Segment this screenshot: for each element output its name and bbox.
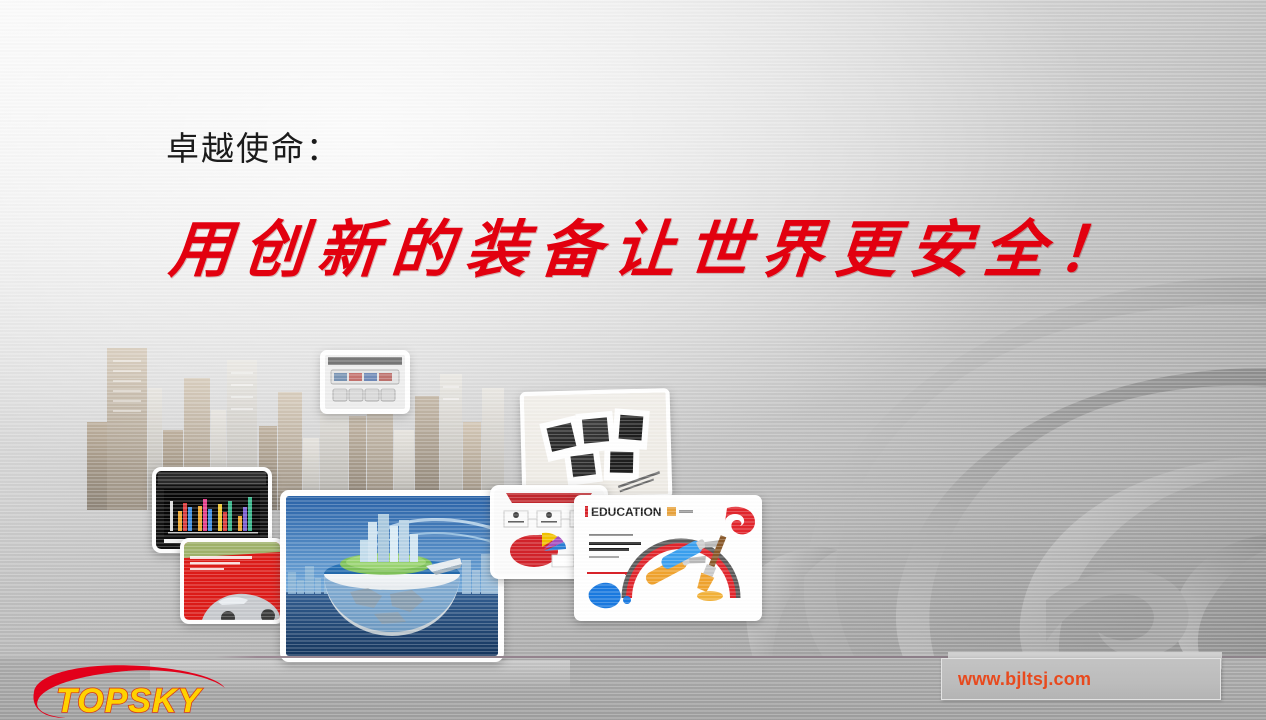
image-collage: EDUCATION [0,300,790,660]
city-skyline-image [85,330,505,510]
url-plate[interactable]: www.bjltsj.com [941,658,1221,700]
swirl-watermark-icon [746,250,1266,720]
website-url[interactable]: www.bjltsj.com [942,669,1091,690]
control-panel-image [320,350,410,414]
mission-headline: 用创新的装备让世界更安全！ [166,199,1136,289]
topsky-logo[interactable]: TOPSKY [22,662,227,720]
red-car-slide-image [180,538,284,624]
logo-wordmark: TOPSKY [56,682,204,720]
education-slide-image: EDUCATION [574,495,762,621]
presentation-slide: EDUCATION [0,0,1266,720]
globe-city-image [280,490,504,662]
mission-label: 卓越使命： [166,122,341,170]
education-title: EDUCATION [591,505,661,519]
